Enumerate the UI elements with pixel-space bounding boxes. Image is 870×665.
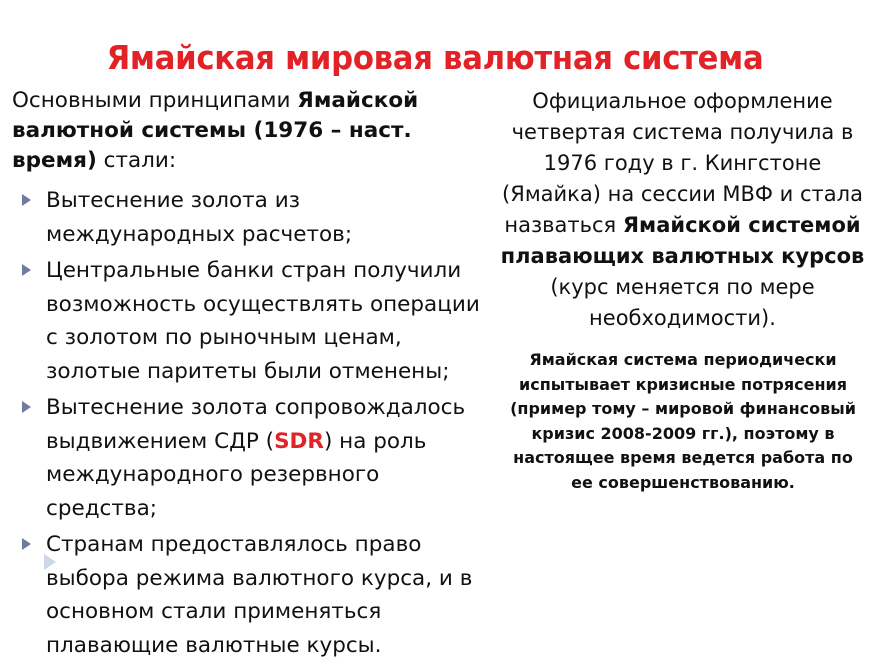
slide: Ямайская мировая валютная система Основн… [0,0,870,600]
triangle-bullet-icon [22,194,31,206]
list-item: Вытеснение золота из международных расче… [10,184,490,251]
right-paragraph-origin: Официальное оформление четвертая система… [500,86,865,334]
principles-list: Вытеснение золота из международных расче… [10,184,490,662]
right-column: Официальное оформление четвертая система… [500,86,865,334]
list-item: Центральные банки стран получили возможн… [10,254,490,388]
right-paragraph-crises: Ямайская система периодически испытывает… [508,348,858,495]
list-item: Странам предоставлялось право выбора реж… [10,528,490,662]
triangle-bullet-icon [22,264,31,276]
list-item-label: Вытеснение золота из международных расче… [46,188,352,247]
left-column: Основными принципами Ямайской валютной с… [10,86,490,665]
triangle-bullet-icon [22,538,31,550]
list-item: Вытеснение золота сопровождалось выдвиже… [10,391,490,525]
intro-text-part1: Основными принципами [12,88,297,113]
list-item-label: Центральные банки стран получили возможн… [46,258,480,384]
page-title: Ямайская мировая валютная система [30,38,839,78]
intro-paragraph: Основными принципами Ямайской валютной с… [10,86,490,176]
right-text-part2: (курс меняется по мере необходимости). [550,275,814,330]
triangle-bullet-icon [22,401,31,413]
list-item-label: Странам предоставлялось право выбора реж… [46,532,472,658]
sdr-accent-text: SDR [274,429,324,454]
intro-text-part2: стали: [97,148,176,173]
